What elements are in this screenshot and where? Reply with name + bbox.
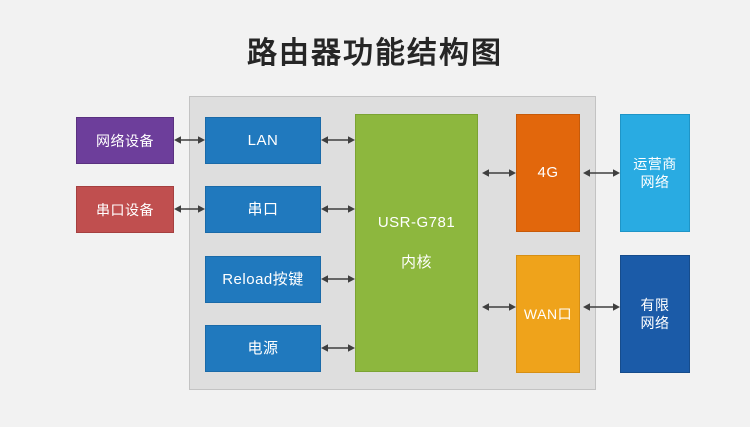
node-carrier-network-label-line1: 运营商 (633, 155, 677, 173)
node-lan-label: LAN (248, 132, 279, 150)
connector-reload-to-core-icon (321, 272, 355, 286)
node-network-device-label: 网络设备 (96, 132, 154, 150)
node-wired-network[interactable]: 有限 网络 (620, 255, 690, 373)
node-core-usr-g781[interactable]: USR-G781 内核 (355, 114, 478, 372)
node-serial-label: 串口 (247, 201, 278, 219)
connector-core-to-4g-icon (482, 166, 516, 180)
node-core-kernel-label: 内核 (401, 254, 432, 272)
connector-serial-device-to-serial-icon (174, 202, 205, 216)
diagram-canvas: 路由器功能结构图 网络设备 串口设备 LAN 串口 Reload按键 电源 US… (0, 0, 750, 427)
node-power[interactable]: 电源 (205, 325, 321, 372)
node-wired-network-label-line1: 有限 (641, 296, 670, 314)
node-carrier-network-label-line2: 网络 (641, 173, 670, 191)
connector-wan-to-wired-network-icon (583, 300, 620, 314)
connector-serial-to-core-icon (321, 202, 355, 216)
node-core-model-label: USR-G781 (378, 214, 455, 232)
connector-core-to-wan-icon (482, 300, 516, 314)
connector-4g-to-carrier-network-icon (583, 166, 620, 180)
node-wan-port-label: WAN口 (524, 305, 572, 323)
node-reload-button[interactable]: Reload按键 (205, 256, 321, 303)
connector-power-to-core-icon (321, 341, 355, 355)
connector-network-device-to-lan-icon (174, 133, 205, 147)
node-reload-button-label: Reload按键 (222, 271, 304, 289)
node-lan[interactable]: LAN (205, 117, 321, 164)
node-wan-port[interactable]: WAN口 (516, 255, 580, 373)
node-network-device[interactable]: 网络设备 (76, 117, 174, 164)
node-wired-network-label-line2: 网络 (641, 314, 670, 332)
node-4g-label: 4G (537, 164, 558, 182)
node-carrier-network[interactable]: 运营商 网络 (620, 114, 690, 232)
node-4g[interactable]: 4G (516, 114, 580, 232)
node-power-label: 电源 (247, 340, 278, 358)
node-serial[interactable]: 串口 (205, 186, 321, 233)
node-serial-device-label: 串口设备 (96, 201, 154, 219)
node-serial-device[interactable]: 串口设备 (76, 186, 174, 233)
connector-lan-to-core-icon (321, 133, 355, 147)
page-title: 路由器功能结构图 (0, 34, 750, 74)
